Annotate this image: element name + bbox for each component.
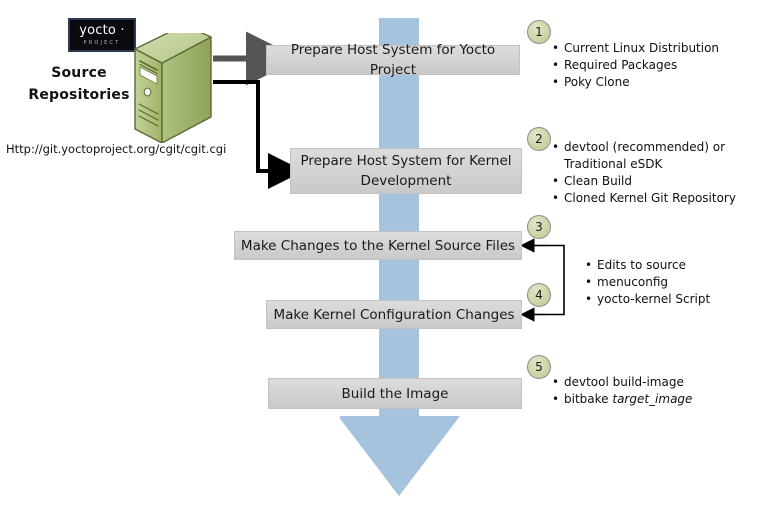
box-2-label: Prepare Host System for Kernel Developme… — [300, 151, 511, 191]
box-3-label: Make Changes to the Kernel Source Files — [241, 236, 515, 256]
box-1-label: Prepare Host System for Yocto Project — [267, 40, 519, 80]
process-box-prepare-host-yocto[interactable]: Prepare Host System for Yocto Project — [266, 45, 520, 75]
step-badge-5: 5 — [527, 355, 551, 379]
step-badge-2: 2 — [527, 127, 551, 151]
note-item-line1: devtool (recommended) or — [564, 140, 725, 154]
note-item: yocto-kernel Script — [585, 291, 710, 308]
note-command-arg: target_image — [612, 392, 692, 406]
note-item: Required Packages — [552, 57, 719, 74]
source-label-line1: Source — [16, 62, 142, 84]
note-item-line2: Traditional eSDK — [564, 157, 662, 171]
flow-arrow-blue — [340, 18, 470, 510]
step-badge-4: 4 — [527, 283, 551, 307]
note-item: Edits to source — [585, 257, 710, 274]
source-repository-url: Http://git.yoctoproject.org/cgit/cgit.cg… — [6, 142, 226, 156]
step-badge-1: 1 — [527, 20, 551, 44]
step-3-number: 3 — [535, 220, 543, 234]
bracket-steps-3-4 — [548, 246, 564, 315]
notes-step-5: devtool build-image bitbake target_image — [552, 374, 692, 408]
note-item: devtool build-image — [552, 374, 692, 391]
yocto-project-logo: yocto · PROJECT — [68, 18, 136, 52]
server-tower-icon — [132, 33, 214, 143]
box-2-line2: Development — [361, 173, 452, 189]
arrow-server-to-box2 — [213, 82, 272, 171]
process-box-prepare-host-kernel[interactable]: Prepare Host System for Kernel Developme… — [290, 148, 522, 194]
step-1-number: 1 — [535, 25, 543, 39]
note-item: Cloned Kernel Git Repository — [552, 190, 736, 207]
box-2-line1: Prepare Host System for Kernel — [300, 153, 511, 169]
step-badge-3: 3 — [527, 215, 551, 239]
note-item: devtool (recommended) or Traditional eSD… — [552, 139, 736, 173]
box-5-label: Build the Image — [342, 384, 449, 404]
box-4-label: Make Kernel Configuration Changes — [273, 305, 514, 325]
notes-step-1: Current Linux Distribution Required Pack… — [552, 40, 719, 91]
step-5-number: 5 — [535, 360, 543, 374]
note-item: Poky Clone — [552, 74, 719, 91]
note-item: menuconfig — [585, 274, 710, 291]
step-4-number: 4 — [535, 288, 543, 302]
notes-steps-3-4: Edits to source menuconfig yocto-kernel … — [585, 257, 710, 308]
logo-subtext: PROJECT — [70, 40, 134, 46]
note-item: bitbake target_image — [552, 391, 692, 408]
process-box-make-source-changes[interactable]: Make Changes to the Kernel Source Files — [234, 231, 522, 260]
step-2-number: 2 — [535, 132, 543, 146]
logo-wordmark: yocto · — [70, 24, 134, 38]
note-item: Current Linux Distribution — [552, 40, 719, 57]
source-repositories-label: Source Repositories — [16, 62, 142, 106]
process-box-build-image[interactable]: Build the Image — [268, 378, 522, 409]
process-box-make-config-changes[interactable]: Make Kernel Configuration Changes — [266, 300, 522, 329]
note-command: bitbake — [564, 392, 612, 406]
note-item: Clean Build — [552, 173, 736, 190]
notes-step-2: devtool (recommended) or Traditional eSD… — [552, 139, 736, 207]
diagram-canvas: yocto · PROJECT Source Repositories Http… — [0, 0, 769, 517]
source-label-line2: Repositories — [16, 84, 142, 106]
